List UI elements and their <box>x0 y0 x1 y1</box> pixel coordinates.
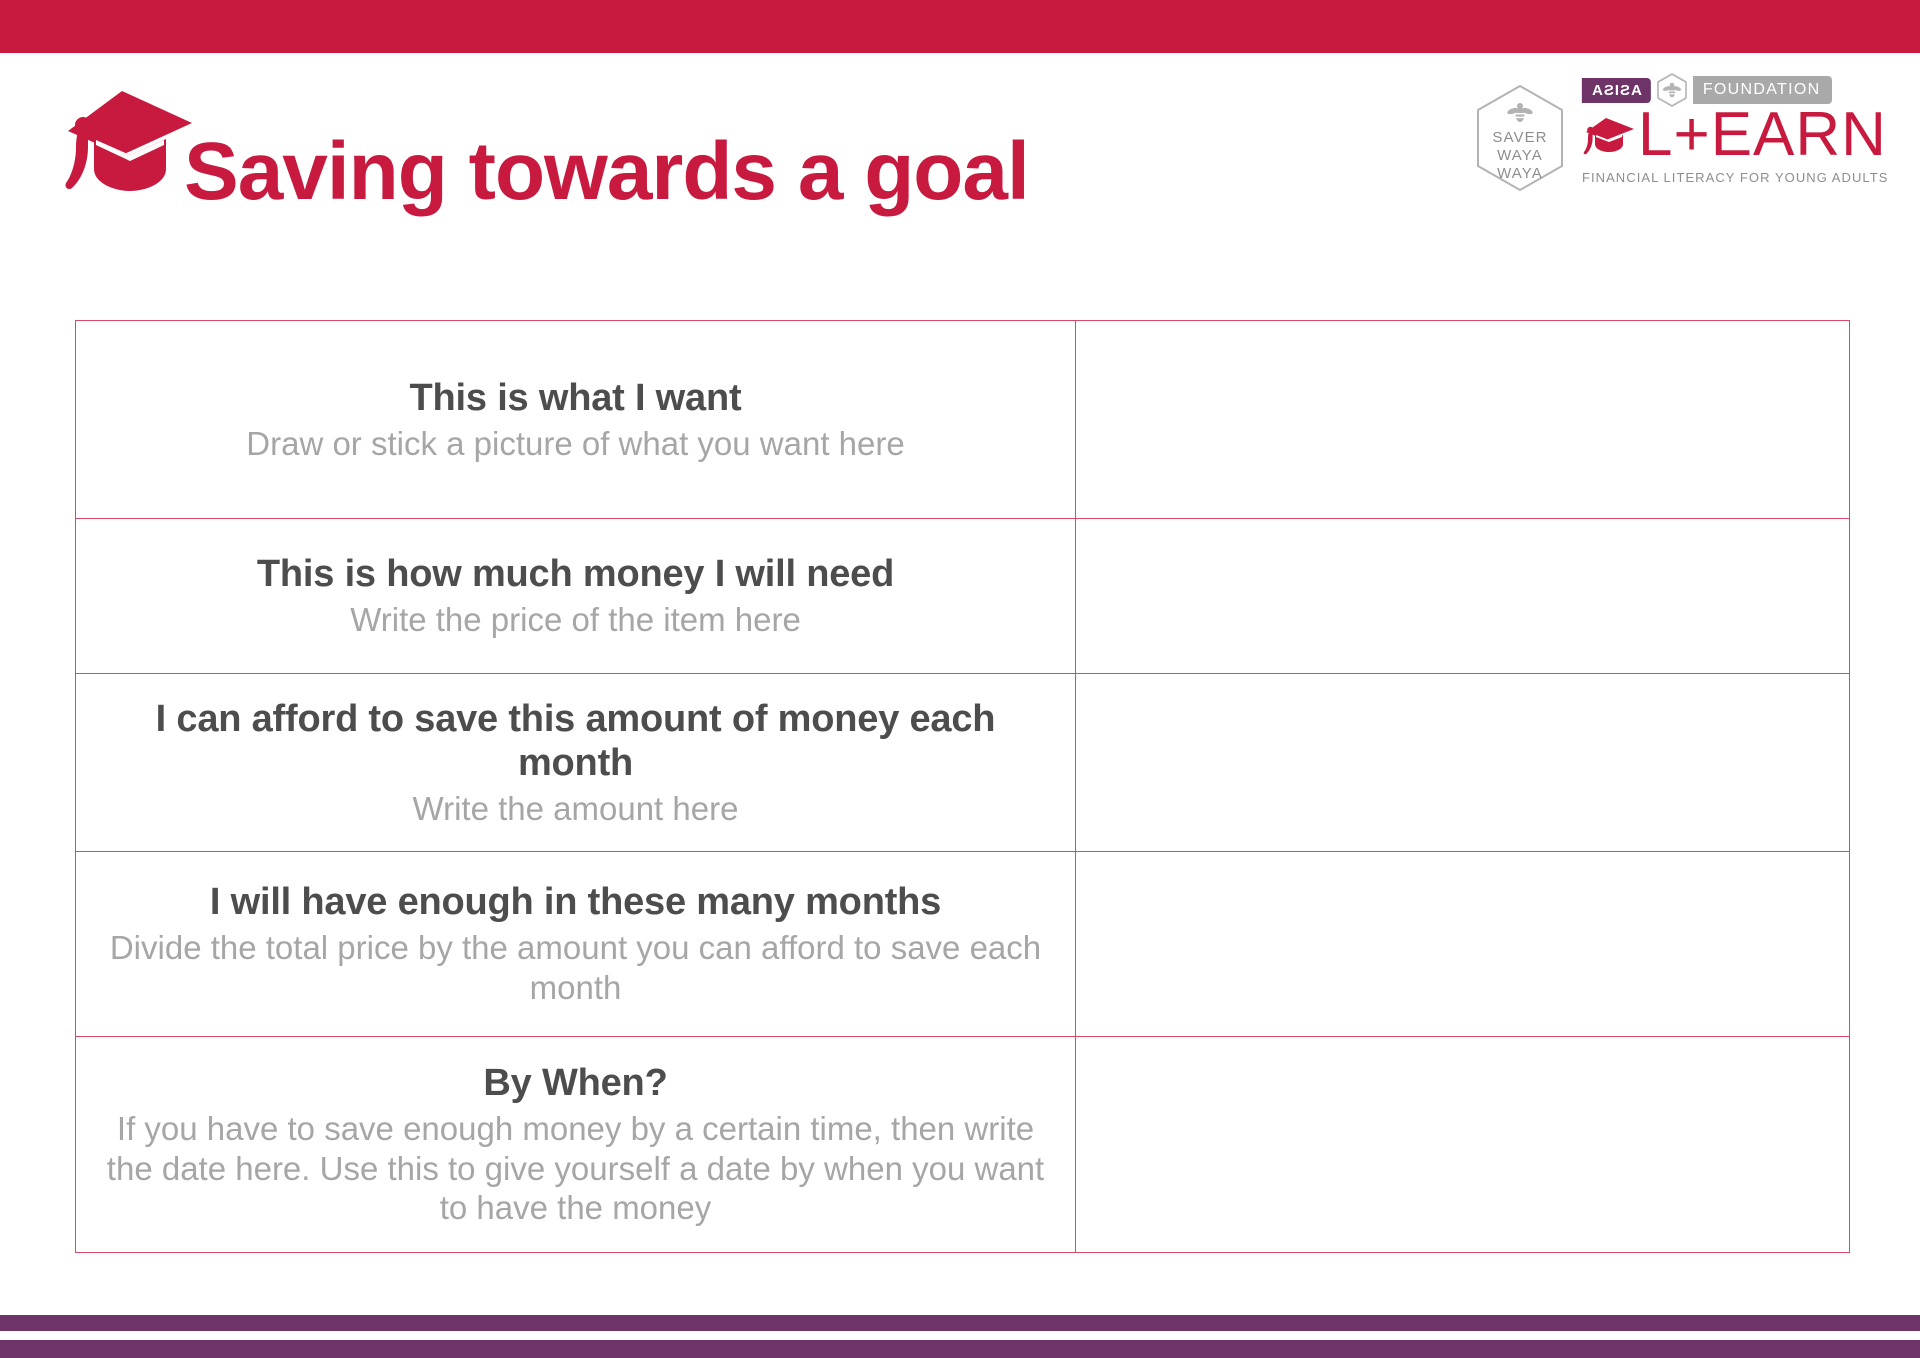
top-accent-bar <box>0 0 1920 53</box>
prompt-cell: I will have enough in these many months … <box>76 852 1076 1036</box>
table-row: I will have enough in these many months … <box>76 852 1849 1037</box>
asisa-label: ASISA <box>1582 78 1651 103</box>
page-title: Saving towards a goal <box>184 131 1029 213</box>
prompt-title: This is what I want <box>410 376 742 420</box>
answer-field-by-when[interactable] <box>1076 1037 1849 1252</box>
table-row: By When? If you have to save enough mone… <box>76 1037 1849 1252</box>
prompt-cell: This is what I want Draw or stick a pict… <box>76 321 1076 518</box>
answer-field-what-i-want[interactable] <box>1076 321 1849 518</box>
table-row: I can afford to save this amount of mone… <box>76 674 1849 852</box>
learn-tagline: FINANCIAL LITERACY FOR YOUNG ADULTS <box>1582 170 1872 185</box>
bottom-accent-bar-thin <box>0 1315 1920 1331</box>
badge-text: SAVER WAYA WAYA <box>1472 129 1568 183</box>
graduation-cap-icon <box>60 83 200 205</box>
prompt-cell: By When? If you have to save enough mone… <box>76 1037 1076 1252</box>
bottom-accent-bar-thick <box>0 1340 1920 1358</box>
bee-icon <box>1506 103 1533 122</box>
prompt-hint: Write the price of the item here <box>350 600 801 640</box>
prompt-cell: I can afford to save this amount of mone… <box>76 674 1076 851</box>
badge-line-2: WAYA <box>1472 147 1568 165</box>
prompt-title: I can afford to save this amount of mone… <box>94 697 1057 785</box>
answer-field-money-needed[interactable] <box>1076 519 1849 673</box>
title-block: Saving towards a goal <box>60 83 1029 213</box>
badge-line-3: WAYA <box>1472 165 1568 183</box>
learn-wordmark: L+EARN <box>1582 107 1872 163</box>
table-row: This is how much money I will need Write… <box>76 519 1849 674</box>
table-row: This is what I want Draw or stick a pict… <box>76 321 1849 519</box>
page-header: Saving towards a goal SAVE <box>0 53 1920 253</box>
answer-field-months-needed[interactable] <box>1076 852 1849 1036</box>
prompt-hint: Write the amount here <box>413 789 739 829</box>
answer-field-monthly-saving[interactable] <box>1076 674 1849 851</box>
prompt-cell: This is how much money I will need Write… <box>76 519 1076 673</box>
prompt-title: This is how much money I will need <box>257 552 894 596</box>
learn-logo: ASISA FOUNDATION <box>1582 75 1872 185</box>
learn-label: L+EARN <box>1638 107 1887 163</box>
prompt-hint: If you have to save enough money by a ce… <box>94 1109 1057 1228</box>
prompt-hint: Draw or stick a picture of what you want… <box>246 424 904 464</box>
prompt-title: By When? <box>483 1061 667 1105</box>
badge-line-1: SAVER <box>1472 129 1568 147</box>
worksheet-page: Saving towards a goal SAVE <box>0 0 1920 1358</box>
brand-logo-cluster: SAVER WAYA WAYA ASISA <box>1472 75 1872 193</box>
graduation-cap-icon <box>1582 115 1636 155</box>
prompt-hint: Divide the total price by the amount you… <box>94 928 1057 1007</box>
saver-waya-waya-badge: SAVER WAYA WAYA <box>1472 83 1568 193</box>
saving-goal-table: This is what I want Draw or stick a pict… <box>75 320 1850 1253</box>
prompt-title: I will have enough in these many months <box>210 880 941 924</box>
